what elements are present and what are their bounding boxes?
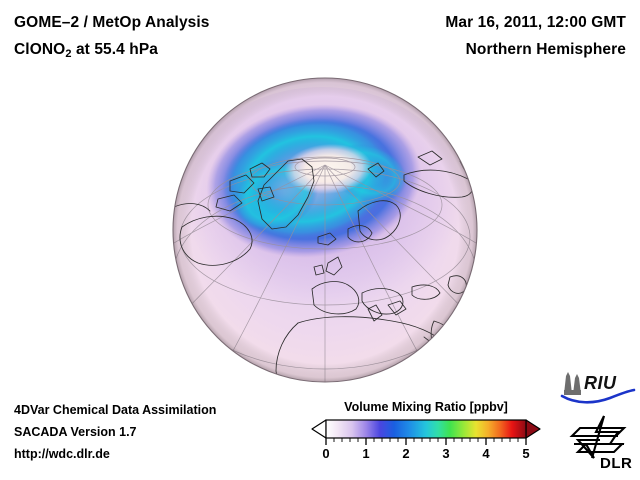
species-name: ClONO — [14, 41, 65, 58]
colorbar-tick-labels: 012345 — [310, 446, 542, 466]
colorbar-legend: Volume Mixing Ratio [ppbv] 012345 — [310, 400, 542, 472]
colorbar-extend-low — [312, 420, 326, 438]
colorbar-extend-high — [526, 420, 540, 438]
colorbar-title: Volume Mixing Ratio [ppbv] — [310, 400, 542, 414]
riu-logo: RIU — [560, 370, 636, 404]
colorbar-tick-label: 0 — [322, 446, 329, 461]
method-label: 4DVar Chemical Data Assimilation — [14, 403, 216, 417]
colorbar-scale — [310, 417, 542, 447]
colorbar-tick-label: 5 — [522, 446, 529, 461]
colorbar-tick-label: 1 — [362, 446, 369, 461]
pressure-level: at 55.4 hPa — [72, 41, 159, 58]
species-level-label: ClONO2 at 55.4 hPa — [14, 41, 158, 60]
dlr-logo: DLR — [566, 414, 636, 472]
website-url[interactable]: http://wdc.dlr.de — [14, 447, 110, 461]
concentration-field — [173, 78, 477, 383]
globe-limb-shading — [173, 78, 477, 382]
colorbar-ticks — [326, 438, 526, 445]
dlr-mark-icon — [572, 416, 624, 458]
page-title: GOME–2 / MetOp Analysis — [14, 14, 210, 32]
hemisphere-label: Northern Hemisphere — [466, 41, 626, 59]
riu-spires-icon — [564, 372, 581, 395]
colorbar-tick-label: 3 — [442, 446, 449, 461]
version-label: SACADA Version 1.7 — [14, 425, 137, 439]
colorbar-gradient — [326, 420, 526, 438]
visualization-page: GOME–2 / MetOp Analysis ClONO2 at 55.4 h… — [0, 0, 640, 480]
dlr-wordmark: DLR — [600, 455, 632, 472]
colorbar-tick-label: 2 — [402, 446, 409, 461]
riu-wordmark: RIU — [584, 373, 617, 393]
globe-map — [172, 77, 478, 383]
colorbar-tick-label: 4 — [482, 446, 489, 461]
valid-time-label: Mar 16, 2011, 12:00 GMT — [445, 14, 626, 32]
